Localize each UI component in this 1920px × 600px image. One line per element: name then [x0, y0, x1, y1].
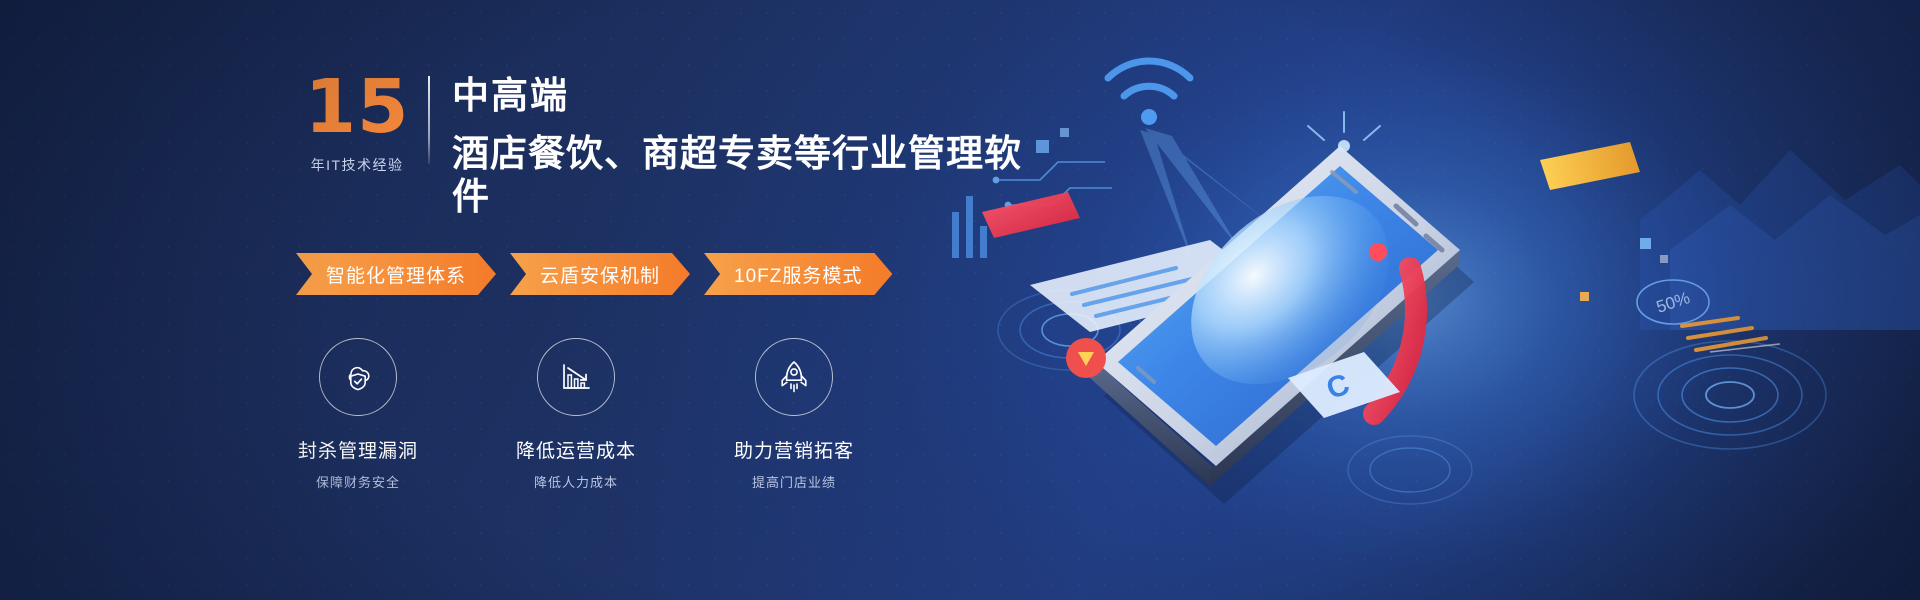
experience-years: 15 年IT技术经验 — [300, 72, 418, 175]
feature-label: 封杀管理漏洞 — [284, 436, 432, 463]
cloud-shield-icon — [338, 357, 378, 397]
feature-icon-circle — [537, 338, 615, 416]
promo-banner: C 50% — [0, 0, 1920, 600]
tag-intelligent-management[interactable]: 智能化管理体系 — [296, 253, 496, 295]
isometric-tech-illustration: C 50% — [940, 0, 1920, 600]
feature-list: 封杀管理漏洞 保障财务安全 降低运营成本 降低人力成本 — [284, 338, 868, 491]
feature-icon-circle — [319, 338, 397, 416]
feature-item-marketing[interactable]: 助力营销拓客 提高门店业绩 — [720, 338, 868, 491]
feature-item-cost[interactable]: 降低运营成本 降低人力成本 — [502, 338, 650, 491]
orange-coin-badge — [1066, 338, 1106, 378]
feature-item-security[interactable]: 封杀管理漏洞 保障财务安全 — [284, 338, 432, 491]
title-block: 中高端 酒店餐饮、商超专卖等行业管理软件 — [452, 72, 1040, 219]
banner-content: 15 年IT技术经验 中高端 酒店餐饮、商超专卖等行业管理软件 智能化管理体系 … — [0, 0, 1040, 600]
feature-sublabel: 降低人力成本 — [502, 472, 650, 491]
feature-tag-list: 智能化管理体系 云盾安保机制 10FZ服务模式 — [296, 253, 892, 295]
declining-bar-chart-icon — [556, 357, 596, 397]
feature-label: 降低运营成本 — [502, 436, 650, 463]
years-number: 15 — [300, 72, 414, 143]
feature-sublabel: 提高门店业绩 — [720, 472, 868, 491]
headline-block: 15 年IT技术经验 中高端 酒店餐饮、商超专卖等行业管理软件 — [300, 72, 1040, 219]
tag-cloud-security[interactable]: 云盾安保机制 — [510, 253, 690, 295]
title-line-2: 酒店餐饮、商超专卖等行业管理软件 — [452, 132, 1040, 219]
years-caption: 年IT技术经验 — [300, 155, 414, 175]
feature-sublabel: 保障财务安全 — [284, 472, 432, 491]
feature-icon-circle — [755, 338, 833, 416]
vertical-divider — [428, 76, 430, 164]
tag-service-model[interactable]: 10FZ服务模式 — [704, 253, 892, 295]
feature-label: 助力营销拓客 — [720, 436, 868, 463]
title-line-1: 中高端 — [452, 74, 1040, 118]
rocket-icon — [774, 357, 814, 397]
